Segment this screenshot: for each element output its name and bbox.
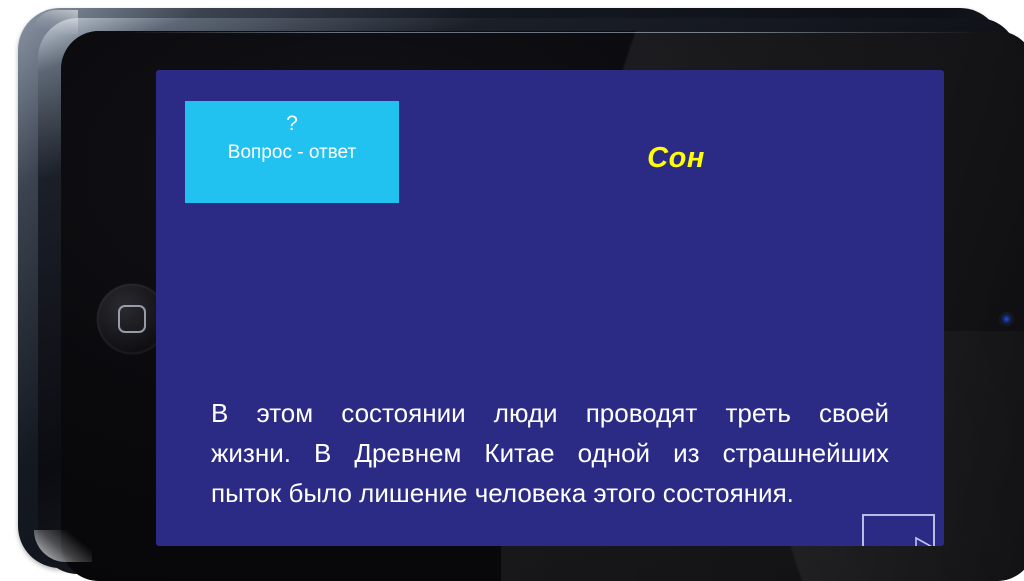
screenshot-stage: ? Вопрос - ответ Сон В этом состоянии лю… (0, 0, 1024, 576)
rounded-square-icon (118, 305, 146, 333)
slide-title: Сон (556, 142, 796, 175)
body-line-3: пыток было лишение человека этого состоя… (211, 473, 889, 513)
body-line-1: В этом состоянии люди проводят треть сво… (211, 393, 889, 433)
play-triangle-icon (887, 522, 911, 547)
front-camera-icon (1000, 313, 1013, 325)
tablet-body: ? Вопрос - ответ Сон В этом состоянии лю… (61, 31, 1024, 581)
question-answer-badge[interactable]: ? Вопрос - ответ (185, 101, 399, 203)
slide-body-text: В этом состоянии люди проводят треть сво… (211, 393, 889, 513)
question-answer-label: Вопрос - ответ (228, 141, 356, 165)
bezel-top-highlight (121, 32, 981, 33)
tablet-device-outer-shell: ? Вопрос - ответ Сон В этом состоянии лю… (18, 8, 1002, 568)
tablet-metal-rim: ? Вопрос - ответ Сон В этом состоянии лю… (38, 18, 1018, 574)
presentation-slide: ? Вопрос - ответ Сон В этом состоянии лю… (156, 70, 944, 546)
body-line-2: жизни. В Древнем Китае одной из страшней… (211, 433, 889, 473)
question-mark-icon: ? (286, 112, 298, 136)
next-slide-button[interactable] (862, 514, 935, 546)
